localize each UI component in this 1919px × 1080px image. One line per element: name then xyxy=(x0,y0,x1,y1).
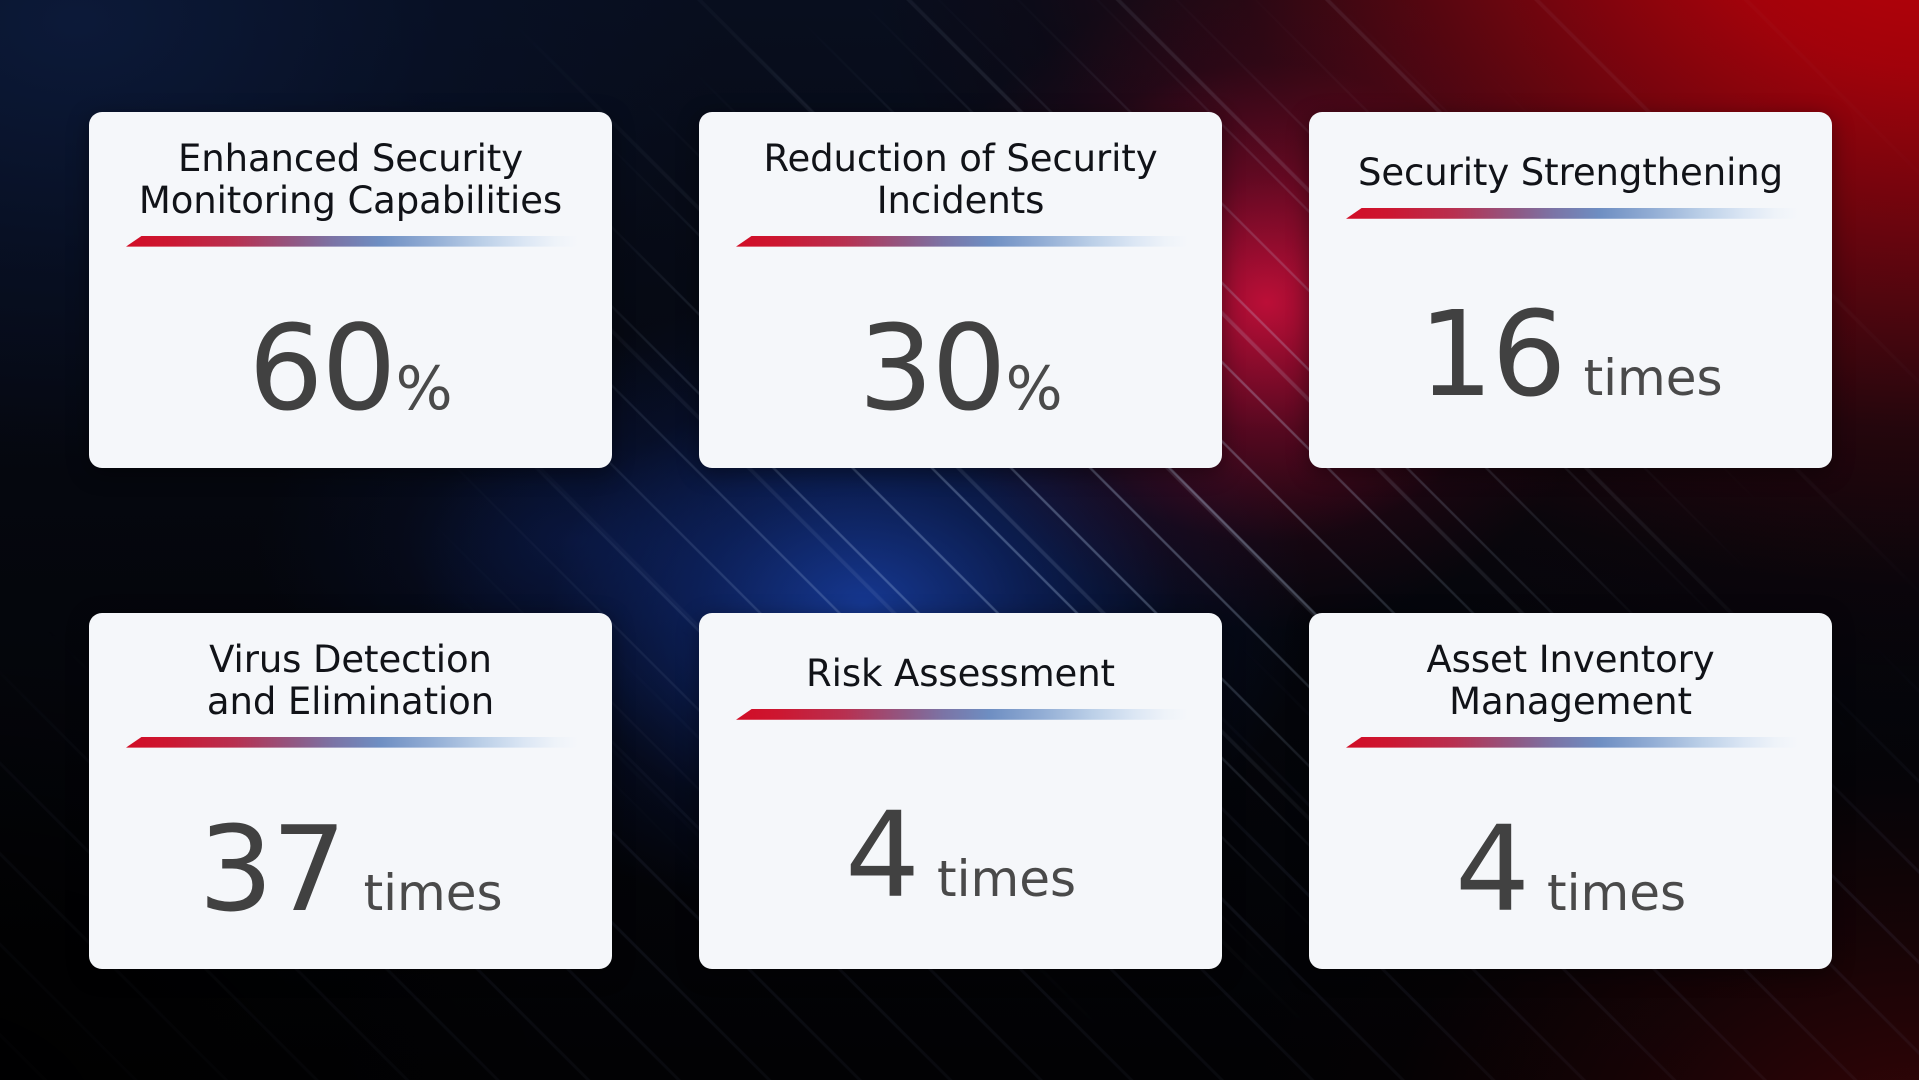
metric-card-title: Reduction of Security Incidents xyxy=(733,138,1188,222)
gradient-rule xyxy=(1346,208,1798,219)
metric-unit: times xyxy=(1547,868,1686,918)
metric-value: 60 xyxy=(248,309,394,427)
gradient-rule xyxy=(736,236,1188,247)
metric-card-title: Risk Assessment xyxy=(733,639,1188,695)
metric-card-divider xyxy=(733,236,1188,249)
metric-value: 4 xyxy=(1455,810,1528,928)
metric-card-virus-detection-and-elimination[interactable]: Virus Detection and Elimination 37 times xyxy=(89,613,612,969)
metric-value-row: 60 % xyxy=(123,249,578,468)
metric-card-divider xyxy=(1343,208,1798,221)
metric-unit: % xyxy=(396,359,453,419)
metric-card-enhanced-security-monitoring-capabilities[interactable]: Enhanced Security Monitoring Capabilitie… xyxy=(89,112,612,468)
gradient-rule xyxy=(126,737,578,748)
metric-unit: times xyxy=(364,868,503,918)
metric-card-divider xyxy=(733,709,1188,722)
metric-unit: times xyxy=(1584,353,1723,403)
metric-card-reduction-of-security-incidents[interactable]: Reduction of Security Incidents 30 % xyxy=(699,112,1222,468)
metric-value-row: 16 times xyxy=(1343,221,1798,468)
metric-unit: % xyxy=(1006,359,1063,419)
infographic-stage: Enhanced Security Monitoring Capabilitie… xyxy=(0,0,1919,1080)
metric-card-risk-assessment[interactable]: Risk Assessment 4 times xyxy=(699,613,1222,969)
gradient-rule xyxy=(1346,737,1798,748)
metric-card-asset-inventory-management[interactable]: Asset Inventory Management 4 times xyxy=(1309,613,1832,969)
metric-card-title: Enhanced Security Monitoring Capabilitie… xyxy=(123,138,578,222)
metric-value-row: 37 times xyxy=(123,750,578,969)
metric-value: 16 xyxy=(1418,295,1564,413)
metric-value-row: 4 times xyxy=(1343,750,1798,969)
metric-value: 30 xyxy=(858,309,1004,427)
metric-value-row: 30 % xyxy=(733,249,1188,468)
metric-value-row: 4 times xyxy=(733,722,1188,969)
metric-card-title: Asset Inventory Management xyxy=(1343,639,1798,723)
metric-card-title: Security Strengthening xyxy=(1343,138,1798,194)
metric-card-divider xyxy=(1343,737,1798,750)
metric-value: 37 xyxy=(198,810,344,928)
metric-unit: times xyxy=(937,854,1076,904)
metric-card-grid: Enhanced Security Monitoring Capabilitie… xyxy=(89,112,1831,969)
gradient-rule xyxy=(736,709,1188,720)
metric-value: 4 xyxy=(845,796,918,914)
metric-card-security-strengthening[interactable]: Security Strengthening 16 times xyxy=(1309,112,1832,468)
gradient-rule xyxy=(126,236,578,247)
metric-card-divider xyxy=(123,737,578,750)
metric-card-title: Virus Detection and Elimination xyxy=(123,639,578,723)
metric-card-divider xyxy=(123,236,578,249)
